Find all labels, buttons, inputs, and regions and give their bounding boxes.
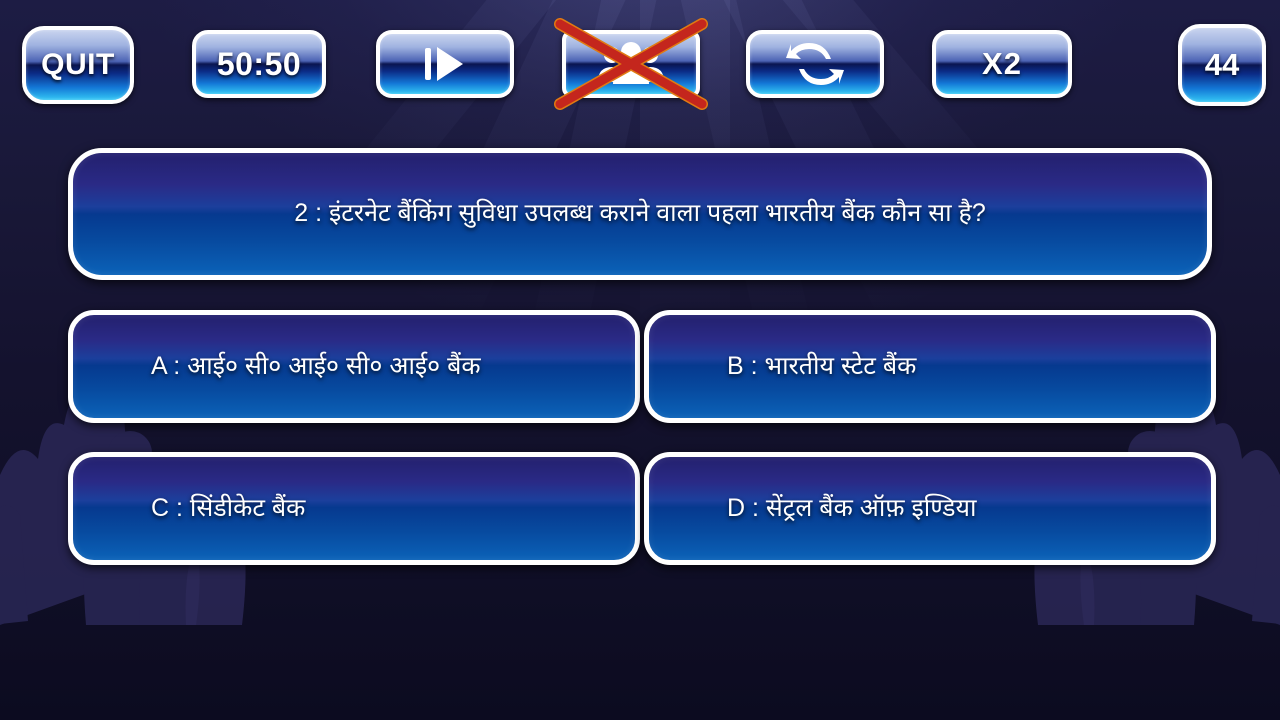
answer-option-d[interactable]: D : सेंट्रल बैंक ऑफ़ इण्डिया	[644, 452, 1216, 565]
answer-option-c-label: C : सिंडीकेट बैंक	[151, 491, 305, 526]
double-dip-lifeline-button[interactable]: X2	[932, 30, 1072, 98]
audience-poll-icon	[595, 42, 667, 86]
question-panel: 2 : इंटरनेट बैंकिंग सुविधा उपलब्ध कराने …	[68, 148, 1212, 280]
double-dip-label: X2	[982, 46, 1022, 82]
answer-option-a[interactable]: A : आई० सी० आई० सी० आई० बैंक	[68, 310, 640, 423]
question-text: 2 : इंटरनेट बैंकिंग सुविधा उपलब्ध कराने …	[99, 196, 1181, 232]
quiz-stage: QUIT 50:50	[0, 0, 1280, 720]
quit-button[interactable]: QUIT	[22, 26, 134, 104]
skip-arrow-icon	[415, 43, 475, 85]
flip-swap-icon	[783, 41, 847, 87]
audience-poll-lifeline-button[interactable]	[562, 30, 700, 98]
flip-question-lifeline-button[interactable]	[746, 30, 884, 98]
answer-option-a-label: A : आई० सी० आई० सी० आई० बैंक	[151, 349, 481, 384]
answer-option-b-label: B : भारतीय स्टेट बैंक	[727, 349, 916, 384]
countdown-timer: 44	[1178, 24, 1266, 106]
answer-option-d-label: D : सेंट्रल बैंक ऑफ़ इण्डिया	[727, 491, 976, 526]
timer-value: 44	[1205, 47, 1239, 83]
fifty-fifty-label: 50:50	[217, 46, 301, 83]
skip-question-lifeline-button[interactable]	[376, 30, 514, 98]
answer-option-c[interactable]: C : सिंडीकेट बैंक	[68, 452, 640, 565]
answer-option-b[interactable]: B : भारतीय स्टेट बैंक	[644, 310, 1216, 423]
lifeline-toolbar: QUIT 50:50	[0, 0, 1280, 130]
quit-label: QUIT	[41, 48, 115, 82]
fifty-fifty-lifeline-button[interactable]: 50:50	[192, 30, 326, 98]
